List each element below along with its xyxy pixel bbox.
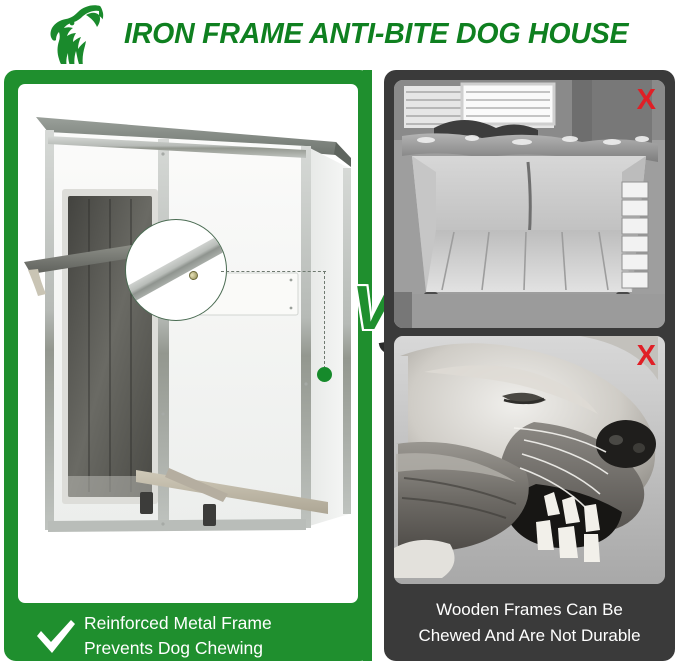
magnified-metal-frame-bar — [125, 219, 227, 321]
chewed-wooden-dog-house-photo: X — [394, 80, 665, 328]
metal-bar-detail — [125, 225, 227, 308]
callout-anchor-dot — [317, 367, 332, 382]
dog-chewing-wood-board-photo: X — [394, 336, 665, 584]
good-caption-line-1: Reinforced Metal Frame — [84, 611, 364, 636]
status-badge-x: X — [637, 84, 656, 116]
good-caption: Reinforced Metal Frame Prevents Dog Chew… — [4, 611, 372, 661]
good-caption-line-2: Prevents Dog Chewing — [84, 636, 364, 661]
dog-head-icon — [42, 2, 120, 64]
bad-product-panel: X — [384, 70, 675, 661]
bad-caption-line-1: Wooden Frames Can Be — [436, 597, 623, 623]
page-title: IRON FRAME ANTI-BITE DOG HOUSE — [124, 12, 664, 56]
metal-frame-dog-house-illustration — [18, 84, 358, 603]
screw-icon — [187, 269, 199, 281]
infographic-page: IRON FRAME ANTI-BITE DOG HOUSE — [0, 0, 679, 665]
bad-caption: Wooden Frames Can Be Chewed And Are Not … — [384, 590, 675, 656]
status-badge-x: X — [637, 340, 656, 372]
callout-connector-vertical — [324, 271, 325, 374]
good-product-panel: Reinforced Metal Frame Prevents Dog Chew… — [4, 70, 372, 661]
product-illustration-area — [18, 84, 358, 603]
header: IRON FRAME ANTI-BITE DOG HOUSE — [0, 0, 679, 66]
bad-caption-line-2: Chewed And Are Not Durable — [418, 623, 640, 649]
callout-connector-horizontal — [221, 271, 326, 272]
checkmark-icon — [30, 611, 80, 661]
